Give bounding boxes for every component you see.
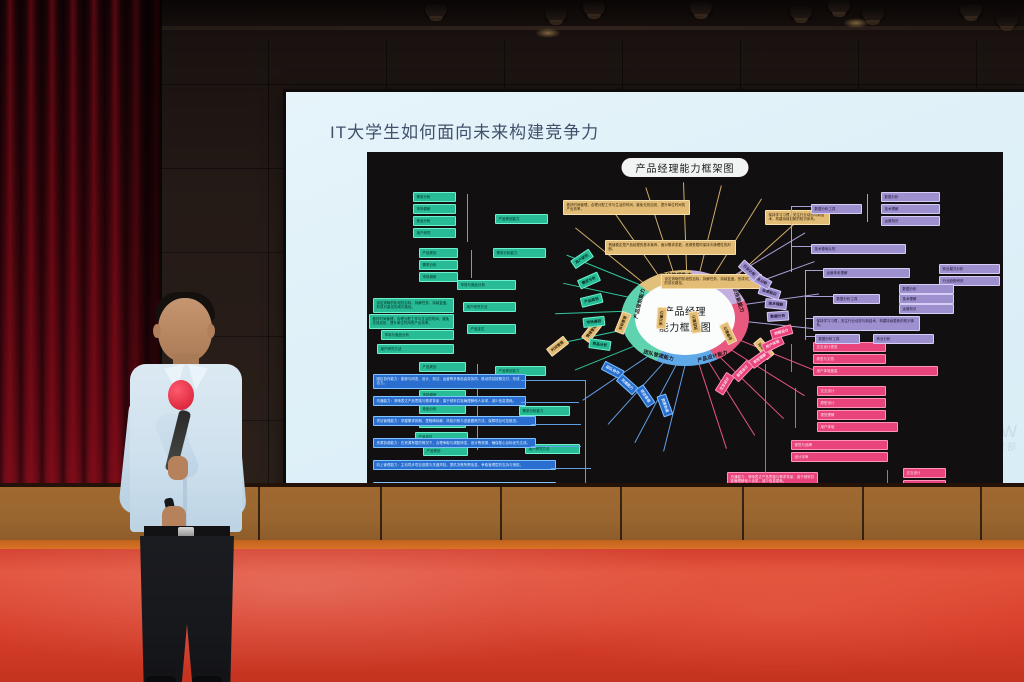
mindmap-branch-pink: 视觉理解 <box>817 410 886 420</box>
projection-screen: IT大学生如何面向未来构建竞争力 源达 W 软件工程部 产品经理能力框架图 <box>286 92 1024 490</box>
connector-rail <box>765 364 766 480</box>
connector-rail <box>791 206 792 272</box>
connector-line <box>531 446 581 447</box>
panel-seam <box>620 483 622 546</box>
hub-line-2: 能力框架图 <box>659 319 712 334</box>
mindmap-leaf-teal: 市场与竞品分析 <box>381 330 454 340</box>
mindmap-branch-pink: 原型设计 <box>817 398 886 408</box>
stage-light-icon <box>790 6 812 20</box>
mindmap-leaf-teal: 竞品分析 <box>413 216 456 226</box>
mindmap-branch-teal: 市场与竞品分析 <box>457 280 516 290</box>
shoe-left <box>146 676 176 682</box>
connector-rail <box>795 388 796 428</box>
mindmap-leaf-teal: 用户研究方法 <box>377 344 454 354</box>
mindmap-note-tan: 做好时间管理，合理分配工作与生活的时间，避免无效加班，提升单位时间的产出效率。 <box>563 200 690 215</box>
mindmap-note-blue: 团队协作能力：能够与研发、设计、测试、运营等多角色高效协同，推动项目按期交付，形… <box>373 374 526 389</box>
mindmap-branch-pink: 交互设计 <box>817 386 886 396</box>
mindmap-note-blue: 向上管理能力：主动同步项目进展与关键风险，提供决策所需信息，争取管理层的支持与授… <box>373 460 556 470</box>
mindmap-branch-teal: 需求分析能力 <box>519 406 570 416</box>
connector-line <box>521 402 579 403</box>
stage-light-icon <box>690 2 712 16</box>
connector-line <box>805 318 813 319</box>
head <box>158 298 212 362</box>
panel-seam <box>500 483 502 546</box>
mindmap-leaf-teal: 需求分析 <box>413 192 456 202</box>
hub-core: 产品经理 能力框架图 <box>635 281 735 355</box>
mindmap-note-tan: 设定清晰的阶段性目标，拆解任务，持续复盘，形成可量化的成长路径。 <box>661 274 762 289</box>
mindmap-spoke-blue: 资源协调 <box>656 393 673 417</box>
connector-line <box>805 296 833 297</box>
mindmap-branch-pink: 设计评审 <box>791 452 888 462</box>
belt-buckle <box>178 527 194 537</box>
mindmap-leaf-lav: 数据分析 <box>881 192 940 202</box>
mindmap-branch-lav: 保持学习习惯，关注行业动态与新技术，构建持续更新的知识体系。 <box>813 316 920 331</box>
lamp-glow <box>535 28 561 38</box>
ear-left <box>153 324 161 338</box>
mindmap-branch-teal: 需求分析能力 <box>493 248 546 258</box>
panel-seam <box>258 483 260 546</box>
mindmap-branch-lav: 数据分析工具 <box>815 334 860 344</box>
connector-line <box>805 336 815 337</box>
mindmap-branch-lav: 运营体系理解 <box>823 268 910 278</box>
ear-right <box>207 324 215 338</box>
connector-line <box>551 468 591 469</box>
microphone-windscreen-icon <box>168 380 194 410</box>
mindmap-leaf-lav: 运营知识 <box>899 304 954 314</box>
mindmap-leaf-lav: 商业模式分析 <box>939 264 1000 274</box>
panel-seam <box>742 483 744 546</box>
mindmap-branch-lav: 数据分析工具 <box>833 294 880 304</box>
mindmap-note-blue: 沟通能力：清晰表达产品思路与需求背景，善于倾听并准确理解他人诉求，减少信息损耗。 <box>373 396 526 406</box>
mindmap-branch-pink: 视觉与品牌 <box>791 440 888 450</box>
mindmap-spoke-lav: 数据分析 <box>767 310 789 322</box>
hub-line-1: 产品经理 <box>664 303 706 318</box>
stage-light-icon <box>583 2 605 16</box>
mindmap-branch-pink: 用户体验度量 <box>813 366 938 376</box>
mindmap-branch-lav: 数据分析工具 <box>811 204 862 214</box>
mindmap-leaf-teal: 做好时间管理，合理分配工作与生活的时间，避免无效加班，提升单位时间的产出效率。 <box>369 314 454 329</box>
trousers <box>140 536 234 682</box>
stage-light-icon <box>828 0 850 14</box>
photo-scene: IT大学生如何面向未来构建竞争力 源达 W 软件工程部 产品经理能力框架图 <box>0 0 1024 682</box>
mindmap-title: 产品经理能力框架图 <box>622 158 749 177</box>
shoe-right <box>192 676 222 682</box>
floor-highlight-right <box>520 560 1024 682</box>
mindmap-spoke-teal: 需求分析 <box>577 272 601 290</box>
mindmap-spoke-teal: 用户研究 <box>570 249 594 270</box>
mindmap-leaf-teal: 需求分析 <box>419 260 458 270</box>
connector-line <box>531 424 581 425</box>
connector-rail <box>887 470 888 484</box>
mindmap-leaf-lav: 技术理解 <box>899 294 954 304</box>
lighting-truss <box>150 26 1024 30</box>
connector-rail <box>805 270 806 340</box>
mindmap-branch-teal: 产品定位 <box>467 324 516 334</box>
mindmap-spoke-teal: 竞品分析 <box>588 338 611 351</box>
mindmap-leaf-pink: 交互设计 <box>903 468 946 478</box>
mindmap-leaf-lav: 技术理解 <box>881 204 940 214</box>
stage-light-icon <box>960 4 982 18</box>
mindmap-branch-teal: 用户研究方法 <box>463 302 516 312</box>
mindmap-branch-pink: 原型与文档 <box>813 354 886 364</box>
mindmap-spoke-teal: 产品规划 <box>580 293 604 308</box>
mindmap-spoke-blue: 项目管理 <box>635 384 656 408</box>
connector-line <box>791 246 811 247</box>
mindmap-note-blue: 资源协调能力：在资源有限的情况下，合理争取与调配研发、设计等资源，确保核心目标优… <box>373 438 536 448</box>
mindmap-branch-lav: 技术基础认知 <box>811 244 906 254</box>
mindmap-spoke-tan: 时间管理 <box>546 336 569 357</box>
mindmap-leaf-lav: 商业分析 <box>873 334 934 344</box>
connector-rail <box>471 250 472 278</box>
connector-line <box>805 270 823 271</box>
stage-light-icon <box>996 14 1018 28</box>
mindmap-note-tan: 情绪稳定是产品经理的基本素养，面对需求变更、资源受限时保持冷静理性的判断。 <box>605 240 736 255</box>
mindmap-spoke-tan: 学习能力 <box>656 307 668 329</box>
mindmap-branch-teal: 产品规划能力 <box>495 214 548 224</box>
panel-seam <box>980 483 982 546</box>
mindmap-leaf-teal: 用户研究 <box>413 228 456 238</box>
mindmap-leaf-teal: 产品规划 <box>419 248 458 258</box>
connector-line <box>521 380 585 381</box>
mindmap-board: 产品经理能力框架图 <box>367 152 1003 484</box>
mindmap-leaf-teal: 市场调研 <box>419 272 458 282</box>
mindmap-note-blue: 项目管理能力：掌握需求排期、里程碑拆解、风险识别与进度跟踪方法，保障项目可控推进… <box>373 416 536 426</box>
mindmap-leaf-lav: 运营知识 <box>881 216 940 226</box>
panel-seam <box>380 483 382 546</box>
panel-seam <box>862 483 864 546</box>
connector-rail <box>867 194 868 222</box>
presenter <box>118 292 250 682</box>
stage-light-icon <box>545 8 567 22</box>
connector-rail <box>791 344 792 372</box>
lamp-glow <box>843 18 869 28</box>
mindmap-leaf-teal: 市场调研 <box>413 204 456 214</box>
mindmap-branch-pink: 用户体验 <box>817 422 898 432</box>
mindmap-leaf-teal: 产品规划 <box>419 362 466 372</box>
mindmap-leaf-lav: 数据分析 <box>899 284 954 294</box>
connector-line <box>697 357 727 448</box>
hand-holding-microphone <box>168 456 188 480</box>
stage-light-icon <box>425 4 447 18</box>
slide-title: IT大学生如何面向未来构建竞争力 <box>330 118 599 143</box>
mindmap-leaf-teal: 设定清晰的阶段性目标，拆解任务，持续复盘，形成可量化的成长路径。 <box>373 298 454 313</box>
connector-rail <box>467 194 468 242</box>
connector-line <box>791 206 811 207</box>
